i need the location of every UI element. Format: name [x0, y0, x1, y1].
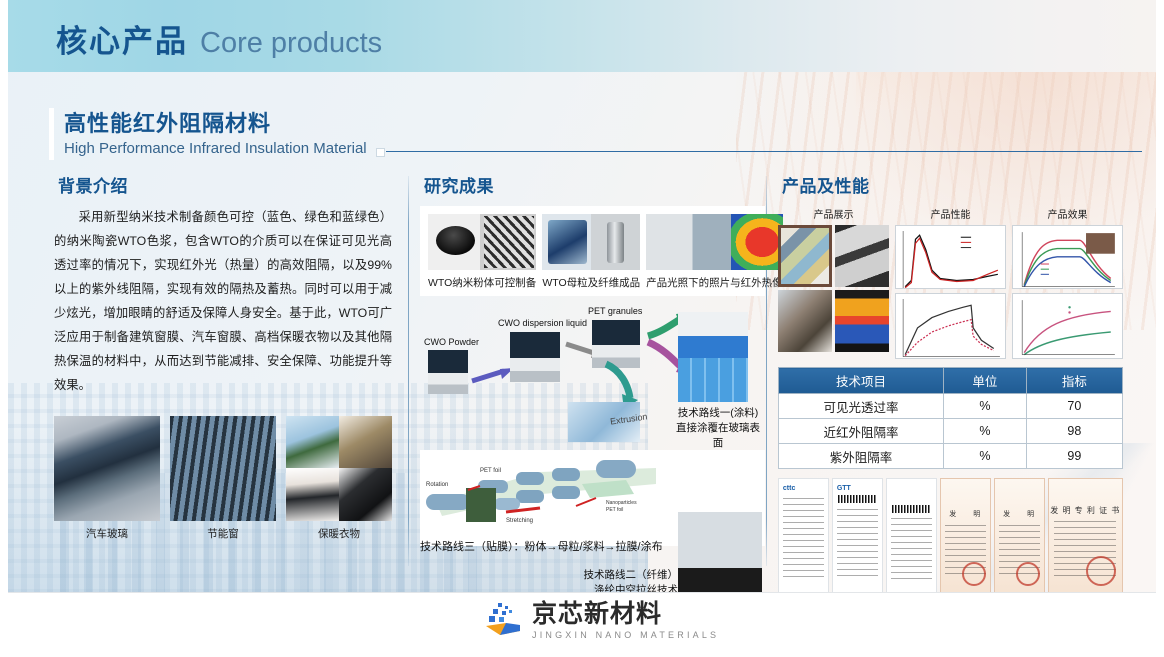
research-results-row: WTO纳米粉体可控制备 WTO母粒及纤维成品 产品光照下的照片与红外热像: [428, 214, 757, 290]
cwo-dispersion-image: [510, 332, 560, 382]
patent-certificate-title: 发 明: [995, 509, 1044, 519]
certificate-row: cttc GTT 发 明 发 明: [778, 478, 1123, 596]
product-demo-photo: [778, 290, 832, 352]
product-showcase-grid: [778, 225, 889, 352]
research-result-caption: 产品光照下的照片与红外热像: [646, 275, 783, 290]
middle-column: 研究成果 WTO纳米粉体可控制备 WTO母粒及纤维成品 产品光照下的照片与红外热…: [420, 172, 765, 546]
barcode-document: GTT: [832, 478, 883, 596]
svg-text:Rotation: Rotation: [426, 482, 448, 488]
flow-label-dispersion: CWO dispersion liquid: [498, 318, 587, 328]
patent-document: [886, 478, 937, 596]
section-title-en: High Performance Infrared Insulation Mat…: [64, 140, 367, 157]
slide-edge-right: [1156, 0, 1164, 657]
svg-text:PET foil: PET foil: [606, 507, 623, 513]
coated-glass-image: [678, 358, 748, 402]
brand-name-en: JINGXIN NANO MATERIALS: [532, 630, 719, 640]
film-line-image: Rotation PET foil Stretching Nanoparticl…: [420, 450, 668, 528]
effect-chart-2: [1012, 293, 1123, 359]
performance-chart-1: [895, 225, 1006, 289]
page-title-en: Core products: [200, 27, 382, 59]
header-band: 核心产品Core products: [8, 0, 1156, 72]
table-row: 近红外阻隔率 % 98: [779, 419, 1123, 444]
product-performance-caption: 产品性能: [895, 206, 1006, 221]
product-effect-block: 产品效果: [1012, 206, 1123, 359]
performance-chart-2-plot: [899, 297, 1002, 359]
table-cell-value: 99: [1026, 444, 1122, 469]
test-report-document: cttc: [778, 478, 829, 596]
table-header-item: 技术项目: [779, 368, 944, 394]
warm-clothing-photo: [286, 416, 392, 521]
footer: 京芯新材料 JINGXIN NANO MATERIALS: [0, 592, 1164, 657]
performance-chart-1-plot: [899, 229, 1002, 289]
svg-text:PET foil: PET foil: [480, 468, 501, 474]
specification-table: 技术项目 单位 指标 可见光透过率 % 70 近红外阻隔率 % 98 紫外阻隔率: [778, 367, 1123, 469]
application-photo-item: 汽车玻璃: [54, 416, 160, 541]
patent-certificate: 发 明: [994, 478, 1045, 596]
table-cell-item: 近红外阻隔率: [779, 419, 944, 444]
application-caption: 节能窗: [170, 526, 276, 541]
product-powder-packs-photo: [835, 225, 889, 287]
patent-certificate-main: 发 明 专 利 证 书: [1048, 478, 1123, 596]
research-result-item: 产品光照下的照片与红外热像: [646, 214, 783, 290]
logo-mark-icon: [480, 601, 522, 641]
table-header-unit: 单位: [944, 368, 1027, 394]
brand-logo: 京芯新材料 JINGXIN NANO MATERIALS: [480, 601, 719, 641]
section-title-cn: 高性能红外阻隔材料: [64, 106, 271, 138]
product-performance-block: 产品性能: [895, 206, 1006, 359]
patent-certificate-title: 发 明: [941, 509, 990, 519]
effect-chart-1: [1012, 225, 1123, 289]
table-cell-item: 紫外阻隔率: [779, 444, 944, 469]
performance-chart-2: [895, 293, 1006, 359]
column-divider-1: [408, 176, 409, 566]
right-column: 产品及性能 产品展示 产品性能: [778, 172, 1123, 596]
research-result-caption: WTO纳米粉体可控制备: [428, 275, 536, 290]
section-rule: [386, 151, 1142, 152]
patent-certificate-title: 发 明 专 利 证 书: [1049, 505, 1122, 516]
table-cell-unit: %: [944, 419, 1027, 444]
gtt-logo: GTT: [837, 485, 851, 492]
cwo-powder-image: [428, 350, 468, 394]
table-header-row: 技术项目 单位 指标: [779, 368, 1123, 394]
application-photo-item: 节能窗: [170, 416, 276, 541]
infrared-thermal-photo: [646, 214, 783, 270]
table-row: 紫外阻隔率 % 99: [779, 444, 1123, 469]
middle-column-title: 研究成果: [424, 172, 765, 197]
cttc-logo: cttc: [783, 485, 795, 492]
process-flow-diagram: CWO Powder CWO dispersion liquid PET gra…: [420, 310, 765, 448]
page-title-cn: 核心产品: [56, 24, 188, 59]
energy-saving-window-photo: [170, 416, 276, 521]
slide: 核心产品Core products 高性能红外阻隔材料 High Perform…: [0, 0, 1164, 657]
route-3-label: 技术路线三（贴膜）：粉体→母粒/浆料→拉膜/涂布: [420, 538, 663, 554]
product-subsections: 产品展示 产品性能: [778, 206, 1123, 359]
product-effect-caption: 产品效果: [1012, 206, 1123, 221]
car-glass-photo: [54, 416, 160, 521]
svg-text:Nanoparticles: Nanoparticles: [606, 500, 637, 506]
research-result-item: WTO母粒及纤维成品: [542, 214, 640, 290]
route-1-label: 技术路线一(涂料) 直接涂覆在玻璃表面: [672, 406, 764, 452]
table-cell-value: 98: [1026, 419, 1122, 444]
effect-chart-1-plot: [1016, 229, 1119, 289]
page-title: 核心产品Core products: [56, 16, 382, 61]
research-results-card: WTO纳米粉体可控制备 WTO母粒及纤维成品 产品光照下的照片与红外热像: [420, 206, 765, 296]
flow-label-pet-granules: PET granules: [588, 306, 642, 316]
product-showcase-caption: 产品展示: [778, 206, 889, 221]
effect-chart-2-plot: [1016, 297, 1119, 359]
table-cell-unit: %: [944, 444, 1027, 469]
brand-text: 京芯新材料 JINGXIN NANO MATERIALS: [532, 602, 719, 640]
brand-name-cn: 京芯新材料: [532, 602, 719, 627]
jingxin-logo-icon: [480, 601, 522, 641]
flow-label-cwo-powder: CWO Powder: [424, 337, 479, 347]
coating-vials-image: [678, 312, 748, 358]
section-rule-marker: [376, 148, 385, 157]
application-caption: 保暖衣物: [286, 526, 392, 541]
wto-powder-photo: [428, 214, 536, 270]
left-column-title: 背景介绍: [58, 172, 392, 197]
application-caption: 汽车玻璃: [54, 526, 160, 541]
wto-masterbatch-photo: [542, 214, 640, 270]
svg-text:Stretching: Stretching: [506, 518, 533, 524]
application-photo-item: 保暖衣物: [286, 416, 392, 541]
table-header-value: 指标: [1026, 368, 1122, 394]
route-1-line-1: 技术路线一(涂料): [672, 406, 764, 421]
route-1-line-2: 直接涂覆在玻璃表面: [672, 421, 764, 451]
research-result-item: WTO纳米粉体可控制备: [428, 214, 536, 290]
film-line-illustration-icon: Rotation PET foil Stretching Nanoparticl…: [420, 450, 668, 528]
table-cell-item: 可见光透过率: [779, 394, 944, 419]
route-2-line-1: 技术路线二（纤维）: [582, 568, 678, 583]
table-cell-value: 70: [1026, 394, 1122, 419]
right-column-title: 产品及性能: [782, 172, 1123, 197]
thermal-camera-photo: [835, 290, 889, 352]
section-accent-bar: [49, 108, 54, 160]
patent-certificate: 发 明: [940, 478, 991, 596]
background-paragraph: 采用新型纳米技术制备颜色可控（蓝色、绿色和蓝绿色）的纳米陶瓷WTO色浆，包含WT…: [54, 206, 392, 398]
table-cell-unit: %: [944, 394, 1027, 419]
product-showcase-block: 产品展示: [778, 206, 889, 359]
column-background: 背景介绍 采用新型纳米技术制备颜色可控（蓝色、绿色和蓝绿色）的纳米陶瓷WTO色浆…: [54, 172, 392, 541]
research-result-caption: WTO母粒及纤维成品: [542, 275, 640, 290]
application-photo-row: 汽车玻璃 节能窗 保暖衣物: [54, 416, 392, 541]
slide-edge-left: [0, 0, 8, 657]
table-row: 可见光透过率 % 70: [779, 394, 1123, 419]
product-samples-photo: [778, 225, 832, 287]
